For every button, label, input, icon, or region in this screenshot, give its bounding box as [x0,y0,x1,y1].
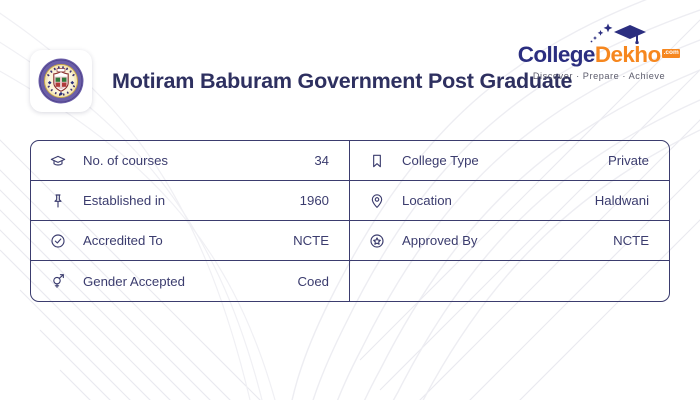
brand-tagline: Discover · Prepare · Achieve [524,71,674,81]
info-label: No. of courses [83,153,314,168]
info-label: Gender Accepted [83,274,297,289]
graduation-cap-logo-icon [524,22,674,44]
info-row-college-type: College Type Private [350,141,669,181]
info-value: 34 [314,153,329,168]
info-column-right: College Type Private Location Haldwani A… [350,141,669,301]
info-value: Private [608,153,649,168]
info-label: Approved By [402,233,613,248]
info-label: Established in [83,193,300,208]
info-row-empty-filler [350,261,669,301]
brand-dotcom-badge: .com [662,49,680,58]
info-label: Accredited To [83,233,293,248]
info-row-no-of-courses: No. of courses 34 [31,141,349,181]
collegedekho-logo[interactable]: CollegeDekho.com Discover · Prepare · Ac… [524,22,674,81]
info-label: Location [402,193,595,208]
info-row-gender-accepted: Gender Accepted Coed [31,261,349,301]
info-value: 1960 [300,193,329,208]
info-row-approved-by: Approved By NCTE [350,221,669,261]
college-seal-icon [37,57,85,105]
info-value: Haldwani [595,193,649,208]
brand-name-college: College [518,44,595,67]
check-circle-icon [50,233,72,249]
info-column-left: No. of courses 34 Established in 1960 Ac… [31,141,350,301]
info-value: NCTE [613,233,649,248]
brand-wordmark: CollegeDekho.com [524,44,674,67]
info-value: Coed [297,274,329,289]
bookmark-icon [369,153,391,169]
college-logo [30,50,92,112]
page-title: Motiram Baburam Government Post Graduate [112,69,572,95]
info-value: NCTE [293,233,329,248]
page-header: Motiram Baburam Government Post Graduate [0,0,700,140]
map-pin-icon [369,193,391,209]
info-label: College Type [402,153,608,168]
pushpin-icon [50,193,72,209]
graduation-cap-icon [50,153,72,169]
info-row-established-in: Established in 1960 [31,181,349,221]
award-badge-icon [369,233,391,249]
college-info-table: No. of courses 34 Established in 1960 Ac… [30,140,670,302]
info-row-location: Location Haldwani [350,181,669,221]
gender-icon [50,273,72,289]
brand-name-dekho: Dekho [595,44,661,67]
info-row-accredited-to: Accredited To NCTE [31,221,349,261]
